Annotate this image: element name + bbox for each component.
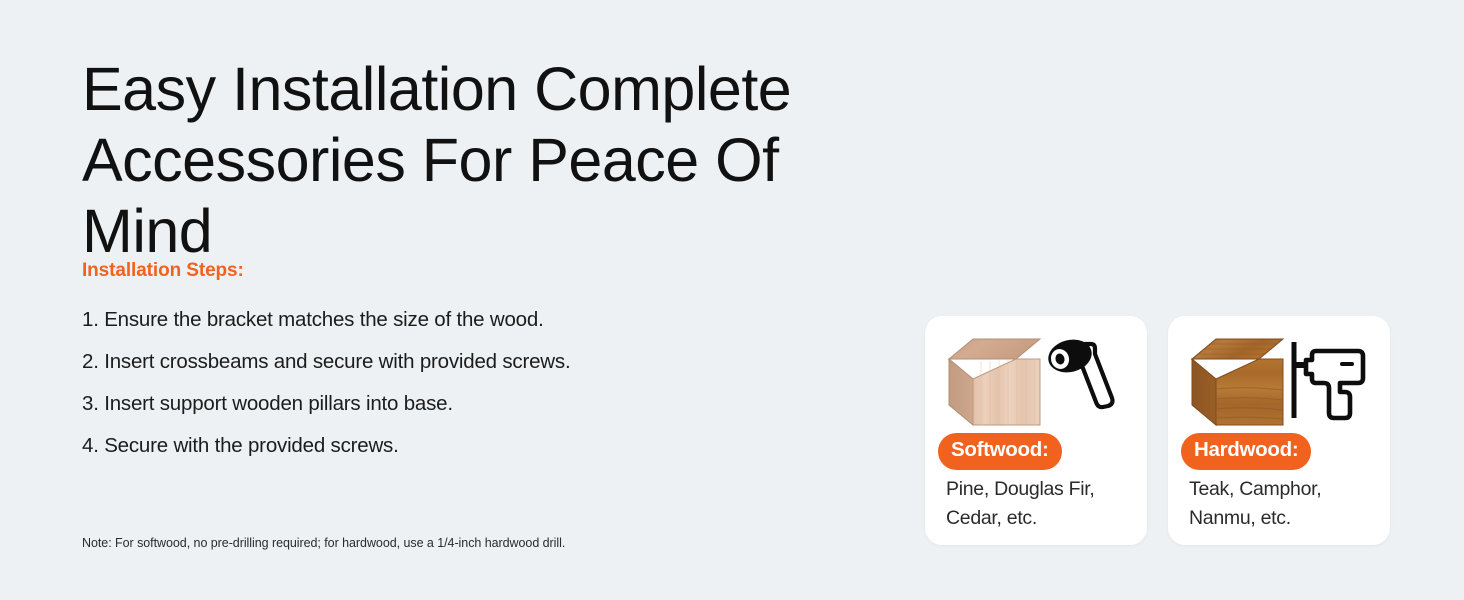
hardwood-card-artwork	[1168, 316, 1390, 426]
softwood-card-artwork	[925, 316, 1147, 426]
list-item: 4. Secure with the provided screws.	[82, 425, 882, 467]
hardwood-badge: Hardwood:	[1181, 433, 1311, 470]
softwood-cube-icon	[947, 337, 1042, 427]
hand-crank-drill-icon	[1047, 334, 1125, 424]
wood-type-cards: Softwood: Pine, Douglas Fir, Cedar, etc.	[925, 316, 1390, 545]
softwood-card: Softwood: Pine, Douglas Fir, Cedar, etc.	[925, 316, 1147, 545]
hardwood-card: Hardwood: Teak, Camphor, Nanmu, etc.	[1168, 316, 1390, 545]
content-column: Easy Installation Complete Accessories F…	[82, 54, 922, 267]
power-drill-icon	[1288, 334, 1370, 426]
installation-steps-title: Installation Steps:	[82, 260, 244, 282]
promo-banner: Easy Installation Complete Accessories F…	[0, 0, 1464, 600]
footnote: Note: For softwood, no pre-drilling requ…	[82, 534, 565, 552]
hardwood-cube-icon	[1190, 337, 1285, 427]
list-item: 2. Insert crossbeams and secure with pro…	[82, 341, 882, 383]
hardwood-description: Teak, Camphor, Nanmu, etc.	[1189, 475, 1378, 533]
list-item: 3. Insert support wooden pillars into ba…	[82, 383, 882, 425]
installation-steps-list: 1. Ensure the bracket matches the size o…	[82, 299, 882, 467]
softwood-badge: Softwood:	[938, 433, 1062, 470]
softwood-description: Pine, Douglas Fir, Cedar, etc.	[946, 475, 1135, 533]
page-title: Easy Installation Complete Accessories F…	[82, 54, 922, 267]
list-item: 1. Ensure the bracket matches the size o…	[82, 299, 882, 341]
